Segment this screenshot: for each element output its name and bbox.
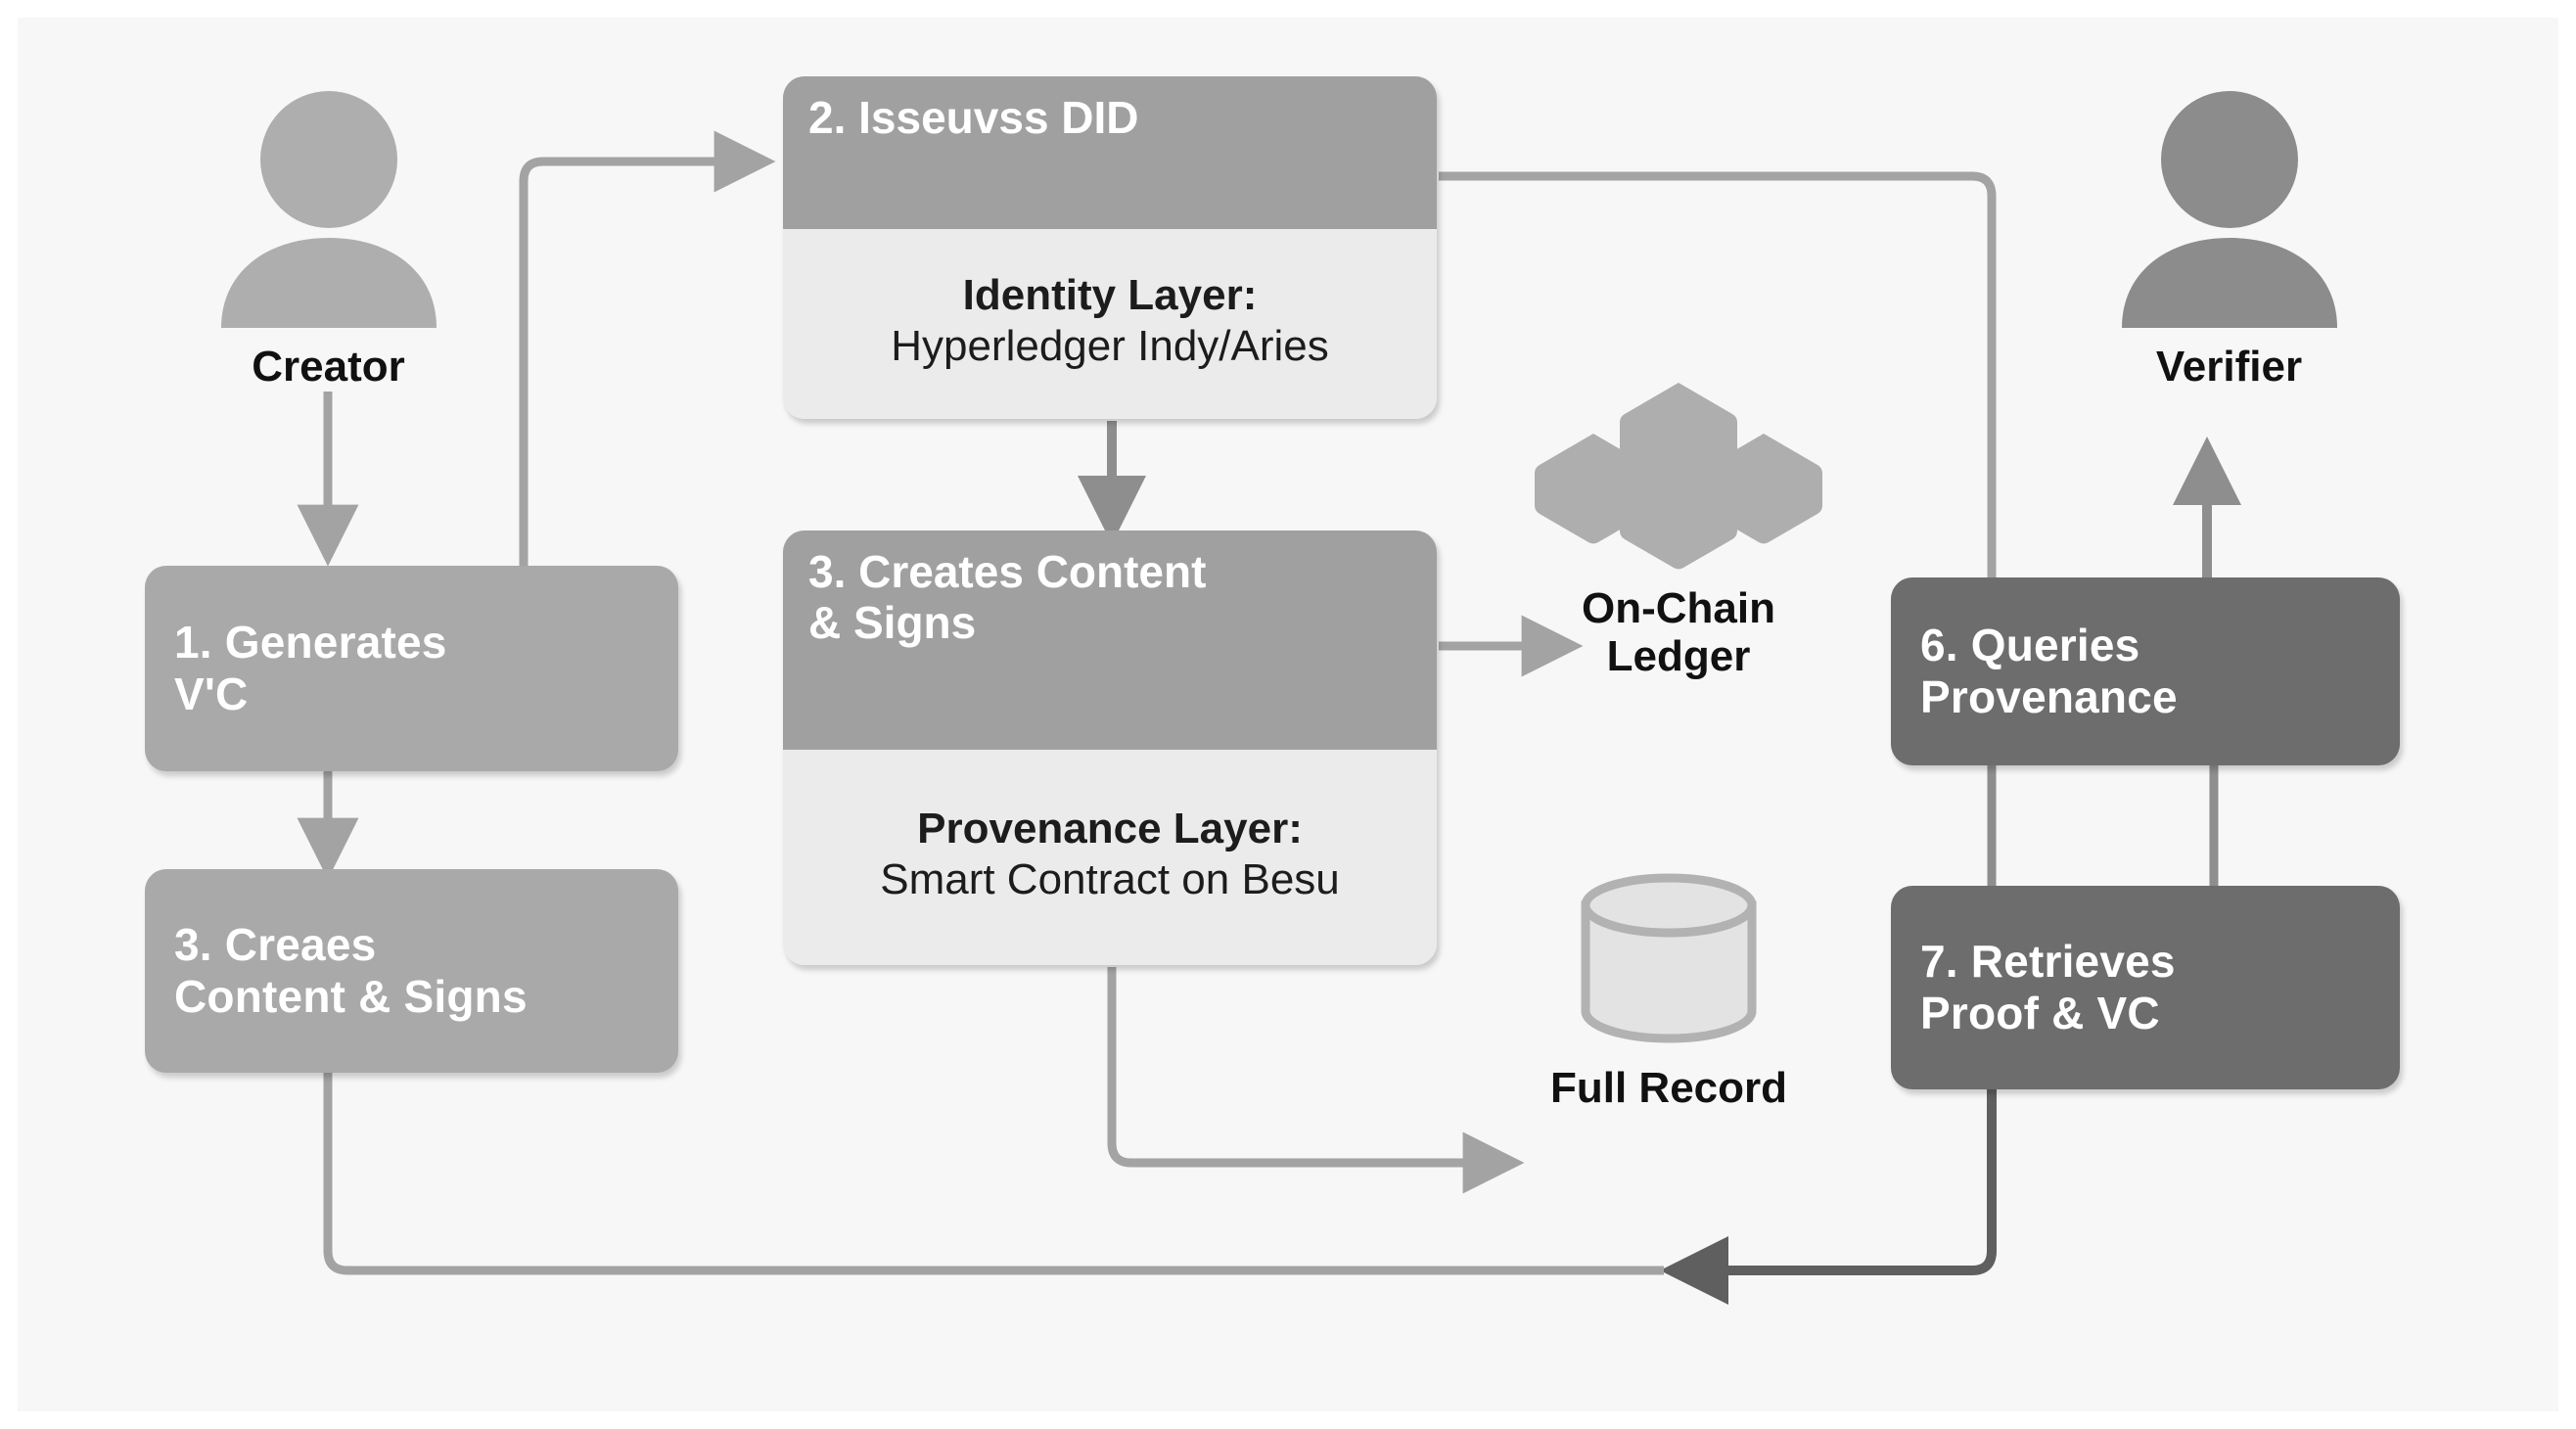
on-chain-ledger-label: On-Chain Ledger	[1582, 584, 1775, 681]
step3mid-layer-title: Provenance Layer:	[917, 804, 1303, 854]
step3left-line2: Content & Signs	[174, 971, 649, 1023]
node-step-3-creaes-content-signs[interactable]: 3. Creaes Content & Signs	[145, 869, 678, 1073]
step3mid-title: 3. Creates Content & Signs	[783, 530, 1437, 750]
wire-step1-to-step2	[524, 161, 763, 566]
person-icon	[207, 88, 450, 333]
person-icon	[2108, 88, 2351, 333]
step2-identity-layer: Identity Layer: Hyperledger Indy/Aries	[783, 229, 1437, 419]
diagram-stage: Creator Verifier On-Chain Ledger	[0, 0, 2576, 1429]
actor-verifier-label: Verifier	[2156, 343, 2302, 392]
step3mid-provenance-layer: Provenance Layer: Smart Contract on Besu	[783, 750, 1437, 965]
actor-creator-label: Creator	[252, 343, 405, 392]
step6-line1: 6. Queries	[1920, 620, 2370, 671]
node-step-7-retrieves-proof-vc[interactable]: 7. Retrieves Proof & VC	[1891, 886, 2400, 1089]
on-chain-label-line1: On-Chain	[1582, 584, 1775, 632]
on-chain-label-line2: Ledger	[1607, 632, 1751, 680]
step6-line2: Provenance	[1920, 671, 2370, 723]
full-record-label: Full Record	[1550, 1064, 1787, 1112]
step2-title: 2. Isseuvss DID	[783, 76, 1437, 229]
wire-step7-return-dark	[1674, 1088, 1992, 1270]
full-record: Full Record	[1541, 866, 1796, 1112]
node-step-3-creates-content-signs[interactable]: 3. Creates Content & Signs Provenance La…	[783, 530, 1437, 965]
database-cylinder-icon	[1561, 866, 1776, 1052]
blockchain-cubes-icon	[1522, 377, 1835, 573]
node-step-1-generates-vc[interactable]: 1. Generates V'C	[145, 566, 678, 771]
step3left-line1: 3. Creaes	[174, 919, 649, 971]
actor-creator: Creator	[204, 88, 453, 392]
node-step-6-queries-provenance[interactable]: 6. Queries Provenance	[1891, 577, 2400, 765]
step7-line2: Proof & VC	[1920, 988, 2370, 1039]
step1-line1: 1. Generates	[174, 617, 649, 668]
step2-layer-title: Identity Layer:	[963, 270, 1258, 321]
wire-step3left-bottom-rail	[328, 1071, 1664, 1270]
on-chain-ledger: On-Chain Ledger	[1517, 377, 1840, 681]
step3mid-title-line1: 3. Creates Content	[808, 546, 1206, 597]
step2-layer-detail: Hyperledger Indy/Aries	[891, 321, 1329, 372]
actor-verifier: Verifier	[2104, 88, 2354, 392]
wire-step3mid-to-fullrecord	[1112, 967, 1512, 1163]
step3mid-layer-detail: Smart Contract on Besu	[880, 854, 1340, 905]
step7-line1: 7. Retrieves	[1920, 936, 2370, 988]
step3mid-title-line2: & Signs	[808, 597, 976, 648]
node-step-2-issues-did[interactable]: 2. Isseuvss DID Identity Layer: Hyperled…	[783, 76, 1437, 419]
step1-line2: V'C	[174, 668, 649, 720]
